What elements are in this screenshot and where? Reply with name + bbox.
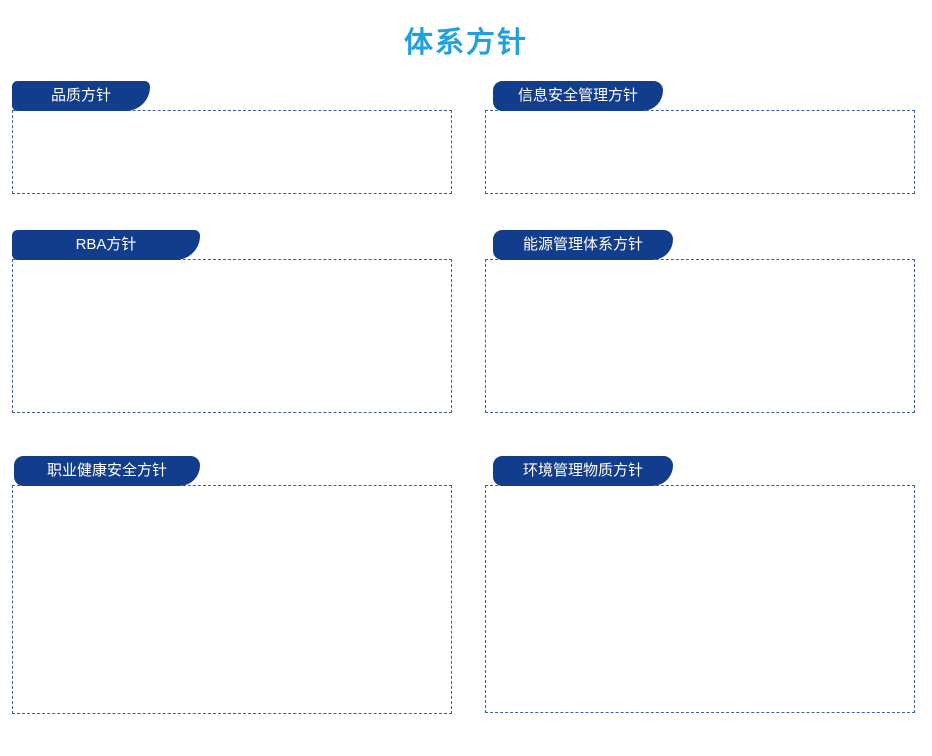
policy-card-body-ohs xyxy=(12,485,452,714)
policy-card-heading-infosec: 信息安全管理方针 xyxy=(493,81,663,111)
policy-card-body-quality xyxy=(12,110,452,194)
policy-card-heading-env: 环境管理物质方针 xyxy=(493,456,673,486)
policy-card-body-energy xyxy=(485,259,915,413)
page-title: 体系方针 xyxy=(0,26,932,60)
policy-card-body-env xyxy=(485,485,915,713)
policy-board: 体系方针 品质方针 顾客导向，技术领先；智能驱动，质量创新；持续改 善，客户满意… xyxy=(0,0,932,756)
policy-card-heading-quality: 品质方针 xyxy=(12,81,150,111)
policy-card-body-rba xyxy=(12,259,452,413)
policy-card-heading-ohs: 职业健康安全方针 xyxy=(14,456,200,486)
policy-card-heading-energy: 能源管理体系方针 xyxy=(493,230,673,260)
policy-card-heading-rba: RBA方针 xyxy=(12,230,200,260)
policy-card-body-infosec xyxy=(485,110,915,194)
